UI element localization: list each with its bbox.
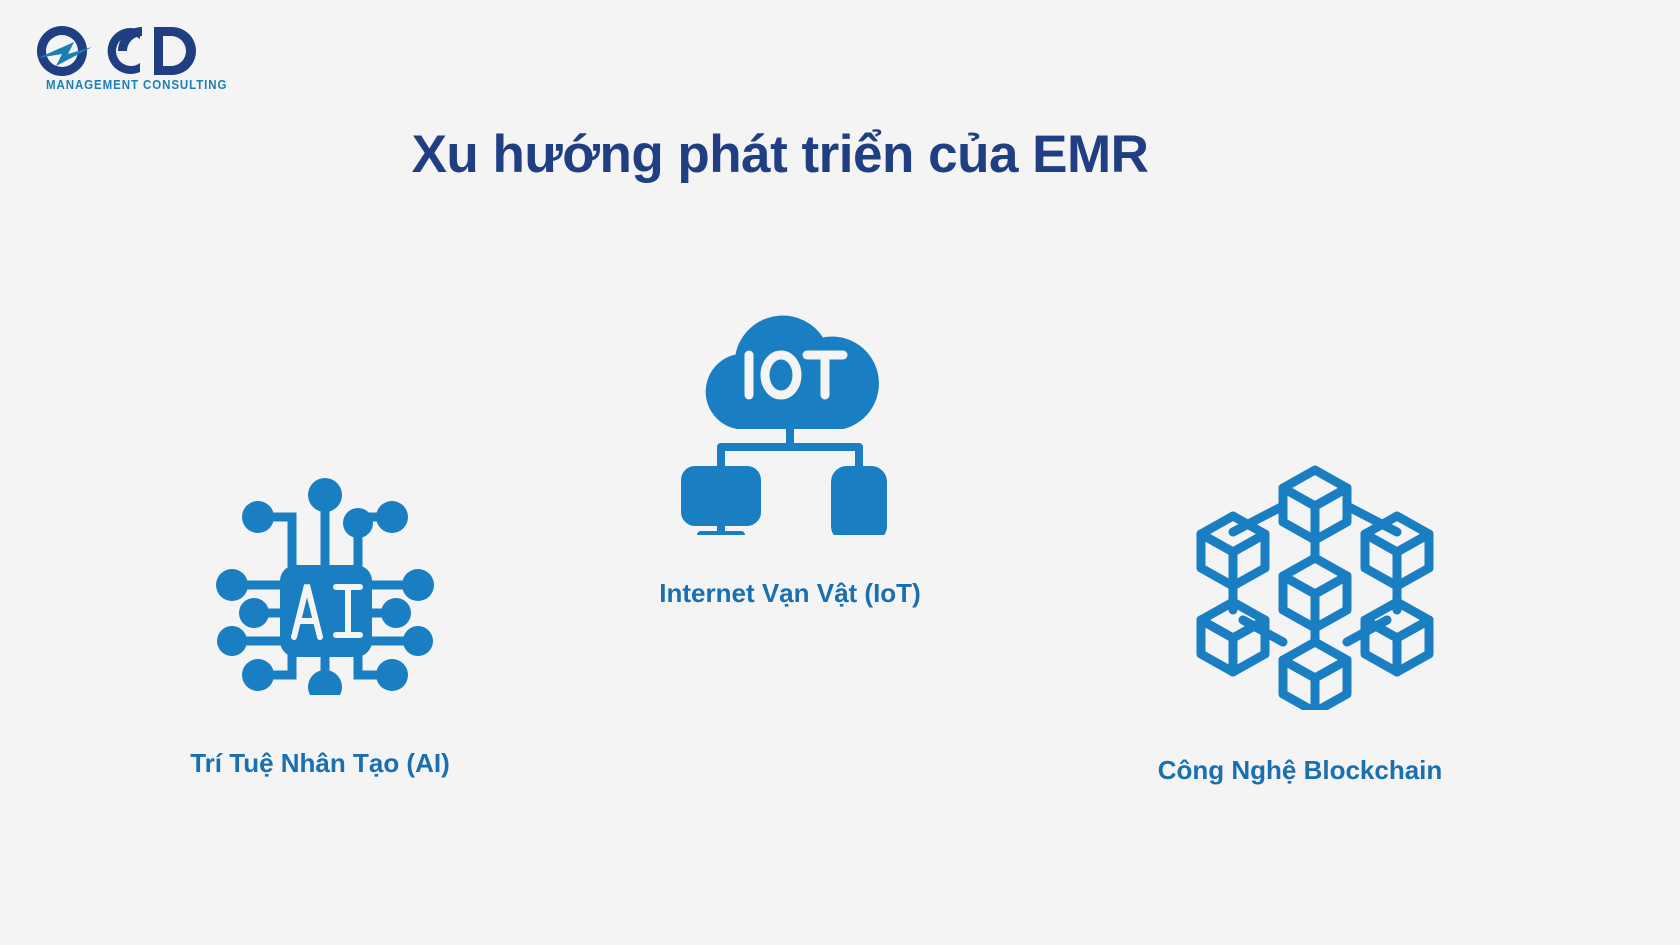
- infographic-canvas: MANAGEMENT CONSULTING Xu hướng phát triể…: [0, 0, 1680, 945]
- logo-tagline: MANAGEMENT CONSULTING: [46, 78, 227, 92]
- item-ai-label: Trí Tuệ Nhân Tạo (AI): [60, 748, 580, 779]
- ocd-logo-mark: [22, 22, 252, 80]
- ai-chip-icon: [210, 455, 440, 695]
- blockchain-cubes-icon: [1185, 460, 1445, 710]
- page-title: Xu hướng phát triển của EMR: [0, 124, 1560, 185]
- item-blockchain-label: Công Nghệ Blockchain: [1040, 755, 1560, 786]
- iot-cloud-icon: [675, 285, 905, 535]
- item-iot-label: Internet Vạn Vật (IoT): [545, 578, 1035, 609]
- item-ai: [100, 455, 540, 795]
- ocd-logo: MANAGEMENT CONSULTING: [22, 22, 252, 102]
- item-iot: [570, 285, 1010, 615]
- item-blockchain: [1080, 460, 1520, 800]
